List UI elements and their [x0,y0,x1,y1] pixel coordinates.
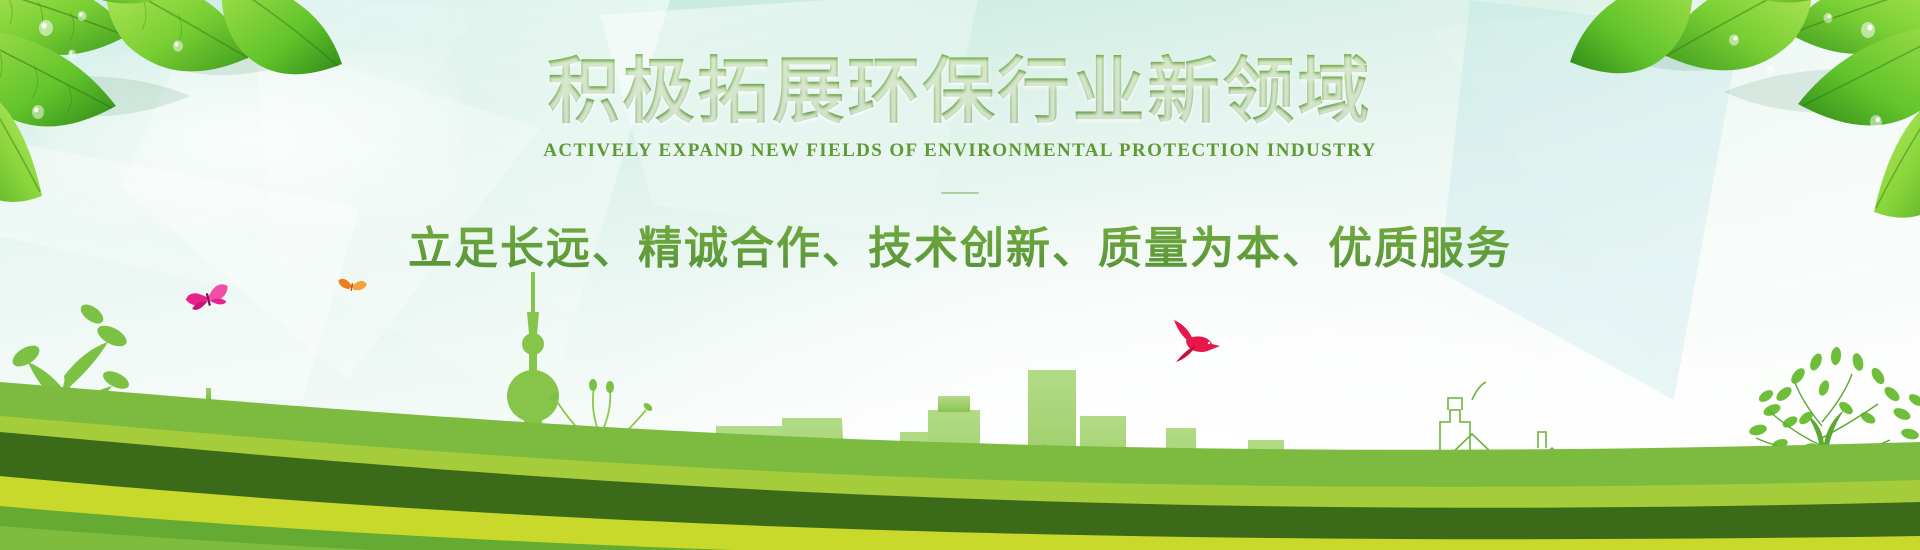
eco-banner: 积极拓展环保行业新领域 ACTIVELY EXPAND NEW FIELDS O… [0,0,1920,550]
page-tagline: 立足长远、精诚合作、技术创新、质量为本、优质服务 [0,212,1920,276]
leaf [1732,0,1854,3]
page-title: 积极拓展环保行业新领域 [0,52,1920,133]
title-divider [941,192,979,194]
leaf [1786,0,1920,54]
butterfly [337,277,367,294]
page-subtitle: ACTIVELY EXPAND NEW FIELDS OF ENVIRONMEN… [0,140,1920,162]
layered-wave-bands [0,320,1920,550]
leaf [64,0,182,4]
leaf [0,0,130,55]
butterfly [184,283,231,313]
